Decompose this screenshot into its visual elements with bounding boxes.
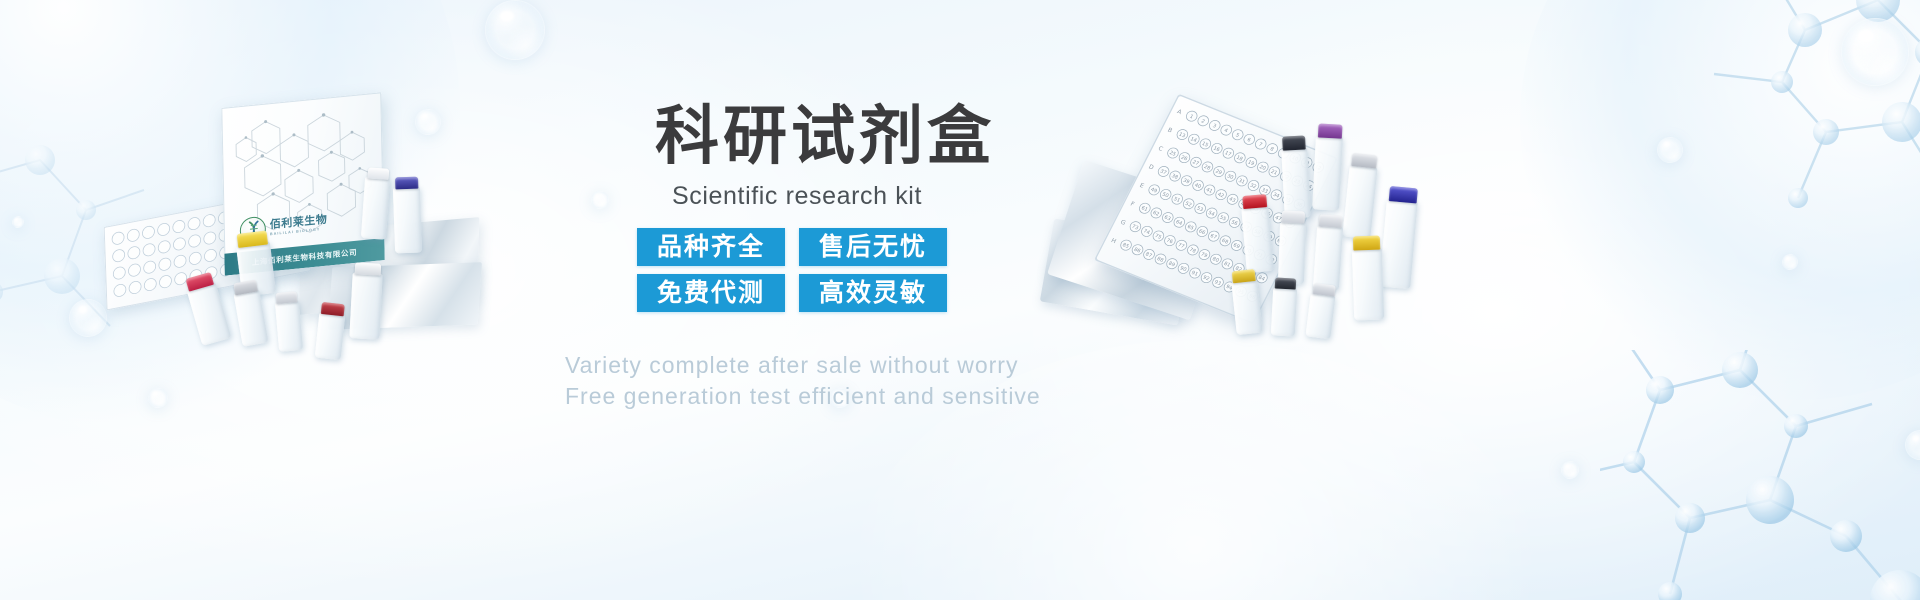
page-title: 科研试剂盒	[655, 105, 995, 169]
badge-variety-complete[interactable]: 品种齐全	[637, 228, 785, 266]
badge-after-sale[interactable]: 售后无忧	[799, 228, 947, 266]
badge-efficient-sensitive[interactable]: 高效灵敏	[799, 274, 947, 312]
tagline-line-2: Free generation test efficient and sensi…	[565, 381, 1205, 412]
banner-text-block: 科研试剂盒 Scientific research kit 品种齐全 售后无忧 …	[0, 0, 1920, 600]
tagline-block: Variety complete after sale without worr…	[565, 350, 1205, 412]
hero-banner: 佰利莱生物 BAILILAI BIOLOGY 上海佰利莱生物科技有限公司	[0, 0, 1920, 600]
badge-free-testing[interactable]: 免费代测	[637, 274, 785, 312]
tagline-line-1: Variety complete after sale without worr…	[565, 350, 1205, 381]
feature-badges: 品种齐全 售后无忧 免费代测 高效灵敏	[637, 228, 947, 312]
page-subtitle: Scientific research kit	[672, 182, 922, 211]
